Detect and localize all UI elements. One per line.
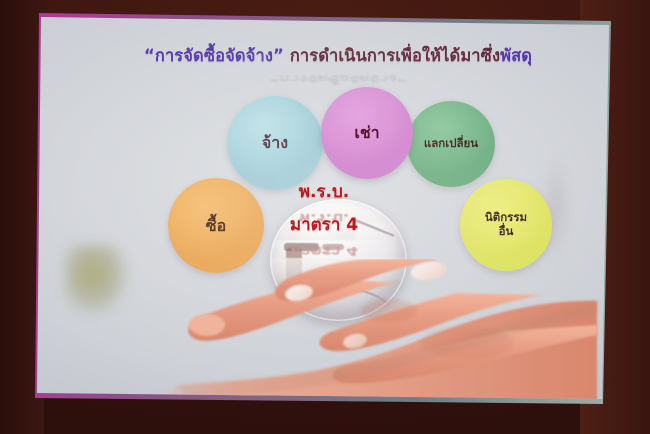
bubble-sue-label: ซื้อ bbox=[206, 216, 226, 235]
title-highlight-word: พัสดุ bbox=[500, 46, 532, 65]
bubble-chao: เช่า bbox=[321, 87, 413, 179]
title-quoted-term: “การจัดซื้อจัดจ้าง” bbox=[144, 46, 284, 65]
hand-index-fingertip bbox=[189, 314, 225, 336]
bubble-nitikam-line2: อื่น bbox=[499, 224, 514, 238]
presentation-slide: “การจัดซื้อจัดจ้าง” การดำเนินการเพื่อให้… bbox=[37, 13, 611, 403]
projection-screen: “การจัดซื้อจัดจ้าง” การดำเนินการเพื่อให้… bbox=[34, 9, 614, 407]
bubble-chao-label: เช่า bbox=[354, 123, 379, 142]
bubble-jang: จ้าง bbox=[227, 96, 323, 190]
bubble-nitikam-label: นิติกรรมอื่น bbox=[485, 211, 527, 239]
bubble-nitikam: นิติกรรมอื่น bbox=[460, 179, 552, 271]
bubble-laekplian-label: แลกเปลี่ยน bbox=[424, 137, 478, 151]
hand-illustration bbox=[37, 259, 611, 403]
bubble-laekplian: แลกเปลี่ยน bbox=[407, 101, 495, 187]
hand-knuckle-shade bbox=[361, 299, 417, 323]
bubble-nitikam-line1: นิติกรรม bbox=[485, 210, 527, 224]
screen-surface: “การจัดซื้อจัดจ้าง” การดำเนินการเพื่อให้… bbox=[37, 13, 611, 403]
bubble-jang-label: จ้าง bbox=[262, 133, 288, 152]
title-projection-ghost: “การจัดซื้อจัดจ้าง” bbox=[103, 71, 573, 85]
slide-title: “การจัดซื้อจัดจ้าง” การดำเนินการเพื่อให้… bbox=[103, 47, 573, 66]
title-definition-text: การดำเนินการเพื่อให้ได้มาซึ่ง bbox=[284, 46, 500, 65]
